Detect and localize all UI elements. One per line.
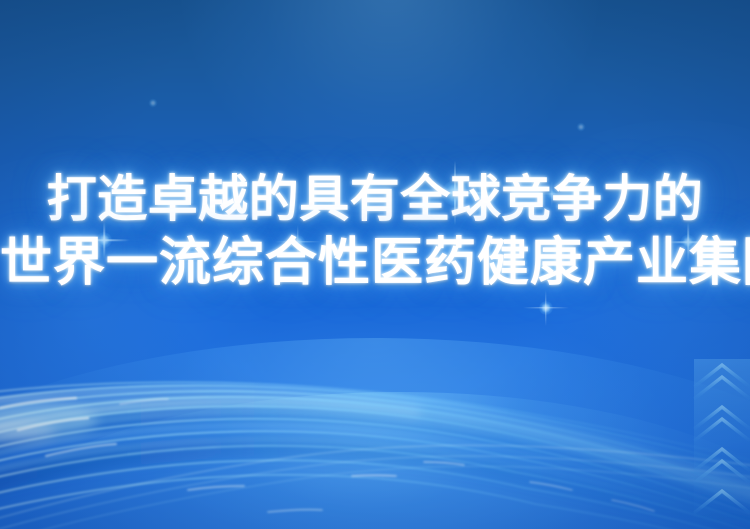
headline-block: 打造卓越的具有全球竞争力的 世界一流综合性医药健康产业集团 xyxy=(0,168,750,296)
light-arc-band xyxy=(0,338,750,529)
background-glow-lower xyxy=(120,300,680,529)
sparkle-faint-upper-right xyxy=(566,112,596,142)
promotional-banner: 打造卓越的具有全球竞争力的 世界一流综合性医药健康产业集团 xyxy=(0,0,750,529)
headline-line-1: 打造卓越的具有全球竞争力的 xyxy=(0,168,750,230)
headline-line-2: 世界一流综合性医药健康产业集团 xyxy=(0,230,750,296)
upward-chevron-stack-icon xyxy=(688,355,750,529)
light-arc-band-inner xyxy=(0,392,750,529)
sparkle-faint-upper-left xyxy=(138,88,168,118)
background-glow-top xyxy=(180,0,600,190)
